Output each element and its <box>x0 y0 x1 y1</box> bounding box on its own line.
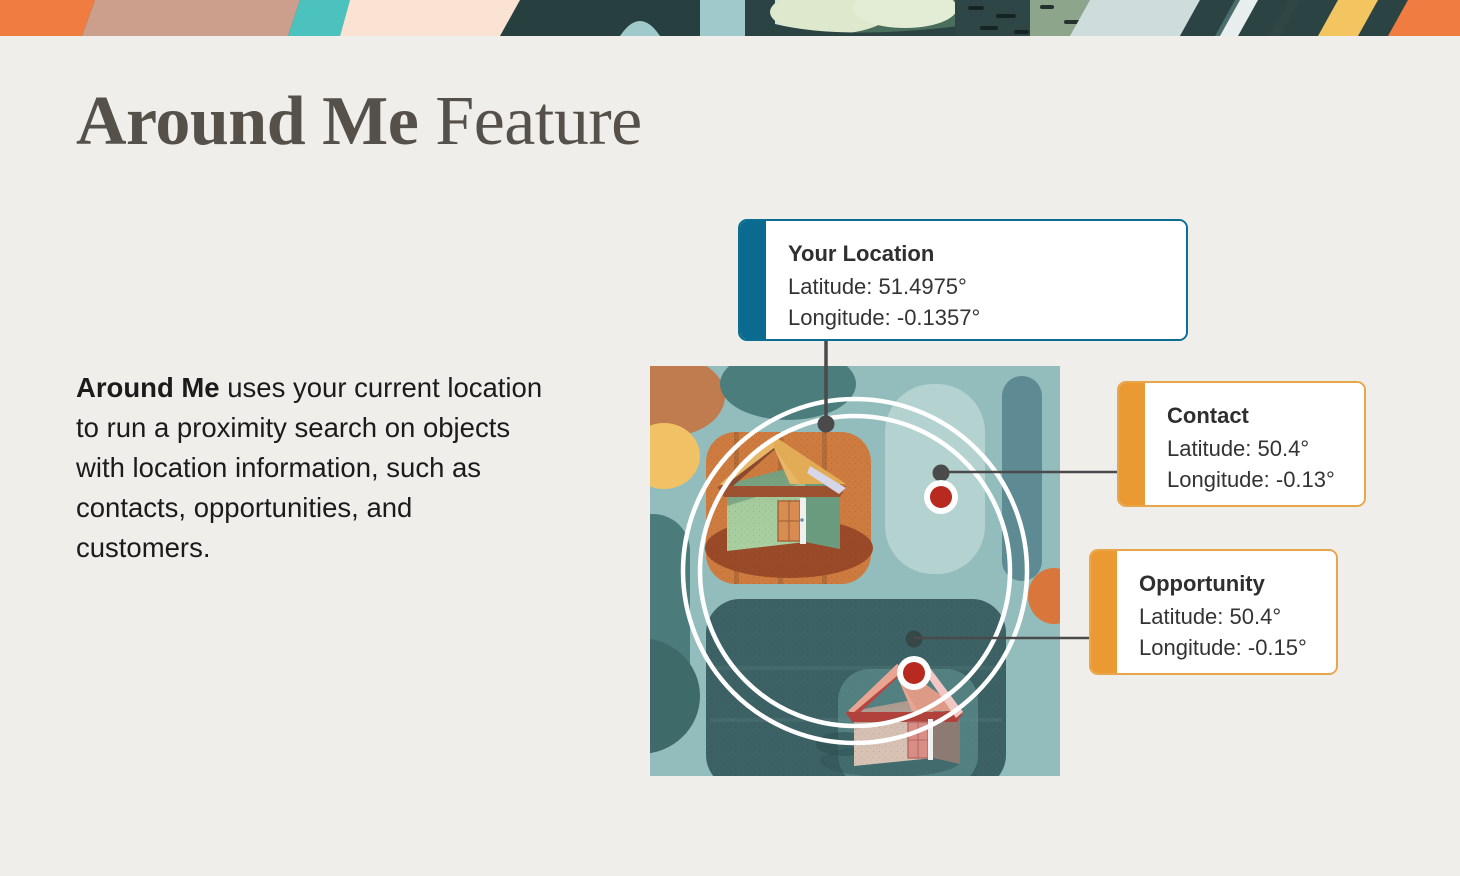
callout-body-opportunity: Opportunity Latitude: 50.4° Longitude: -… <box>1117 551 1336 673</box>
band-shape-orange-left <box>0 0 95 36</box>
band-shape-dark-1 <box>500 0 700 36</box>
page-title: Around Me Feature <box>76 85 642 159</box>
callout-longitude-opportunity: Longitude: -0.15° <box>1139 632 1314 663</box>
map-illustration[interactable] <box>650 366 1060 776</box>
callout-card-contact[interactable]: Contact Latitude: 50.4° Longitude: -0.13… <box>1117 381 1366 507</box>
callout-title-opportunity: Opportunity <box>1139 569 1314 599</box>
band-shape-lightblue-1 <box>700 0 745 36</box>
decorative-top-band <box>0 0 1460 36</box>
intro-paragraph-strong: Around Me <box>76 372 220 403</box>
map-artwork <box>650 366 1060 776</box>
callout-accent-bar-your-location <box>740 221 766 339</box>
callout-latitude-opportunity: Latitude: 50.4° <box>1139 601 1314 632</box>
callout-longitude-your-location: Longitude: -0.1357° <box>788 302 1164 333</box>
contact-pin <box>930 486 952 508</box>
callout-body-your-location: Your Location Latitude: 51.4975° Longitu… <box>766 221 1186 339</box>
callout-latitude-your-location: Latitude: 51.4975° <box>788 271 1164 302</box>
contact-anchor-dot <box>933 465 950 482</box>
callout-card-opportunity[interactable]: Opportunity Latitude: 50.4° Longitude: -… <box>1089 549 1338 675</box>
opportunity-anchor-dot <box>906 631 923 648</box>
callout-longitude-contact: Longitude: -0.13° <box>1167 464 1342 495</box>
band-shape-dark-2 <box>745 0 775 36</box>
your-location-marker <box>818 416 835 433</box>
callout-title-your-location: Your Location <box>788 239 1164 269</box>
callout-accent-bar-contact <box>1119 383 1145 505</box>
top-band-artwork <box>0 0 1460 36</box>
page-title-strong: Around Me <box>76 83 418 160</box>
callout-accent-bar-opportunity <box>1091 551 1117 673</box>
page-title-light: Feature <box>418 83 641 160</box>
band-shape-tan <box>82 0 300 36</box>
callout-title-contact: Contact <box>1167 401 1342 431</box>
opportunity-pin <box>903 662 925 684</box>
band-shape-dark-spikes <box>1180 0 1340 36</box>
callout-body-contact: Contact Latitude: 50.4° Longitude: -0.13… <box>1145 383 1364 505</box>
callout-card-your-location[interactable]: Your Location Latitude: 51.4975° Longitu… <box>738 219 1188 341</box>
band-shape-lightgray <box>1070 0 1200 36</box>
callout-latitude-contact: Latitude: 50.4° <box>1167 433 1342 464</box>
intro-paragraph: Around Me uses your current location to … <box>76 368 546 568</box>
